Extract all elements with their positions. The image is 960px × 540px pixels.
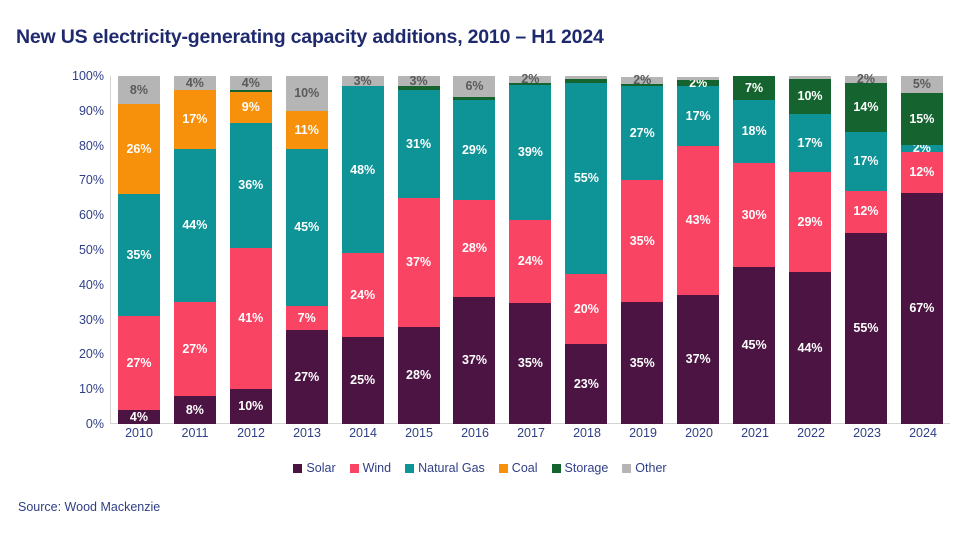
bar-segment-label: 7%	[298, 312, 316, 325]
bar-column[interactable]: 8%27%44%17%4%	[174, 76, 216, 424]
bar-segment-other[interactable]	[565, 76, 607, 79]
bar-column[interactable]: 10%41%36%9%4%	[230, 76, 272, 424]
bar-segment-label: 4%	[186, 77, 204, 90]
legend-swatch-icon	[552, 464, 561, 473]
bar-segment-label: 4%	[242, 77, 260, 90]
bar-segment-solar[interactable]: 37%	[677, 295, 719, 424]
bar-segment-solar[interactable]: 4%	[118, 410, 160, 424]
y-tick-label: 20%	[60, 347, 104, 361]
bar-segment-label: 3%	[354, 75, 372, 88]
bar-segment-storage[interactable]: 14%	[845, 83, 887, 132]
bar-column[interactable]: 37%28%29%6%	[453, 76, 495, 424]
bar-segment-label: 55%	[574, 172, 599, 185]
bar-segment-label: 10%	[798, 90, 823, 103]
legend-item-wind[interactable]: Wind	[350, 461, 391, 475]
bar-segment-label: 23%	[574, 378, 599, 391]
legend-swatch-icon	[405, 464, 414, 473]
bar-segment-label: 35%	[630, 235, 655, 248]
bar-segment-label: 7%	[745, 82, 763, 95]
x-tick-label: 2023	[846, 426, 888, 440]
bar-segment-label: 44%	[798, 342, 823, 355]
bar-segment-label: 39%	[518, 146, 543, 159]
bar-segment-label: 8%	[186, 404, 204, 417]
bar-segment-label: 41%	[238, 312, 263, 325]
bar-column[interactable]: 25%24%48%3%	[342, 76, 384, 424]
bar-segment-solar[interactable]: 8%	[174, 396, 216, 424]
legend-swatch-icon	[499, 464, 508, 473]
bar-segment-natural-gas[interactable]: 35%	[118, 194, 160, 316]
bar-segment-wind[interactable]: 28%	[453, 200, 495, 296]
bar-segment-storage[interactable]	[230, 90, 272, 92]
bar-segment-label: 30%	[742, 209, 767, 222]
bar-column[interactable]: 55%12%17%14%2%	[845, 76, 887, 424]
bar-segment-wind[interactable]: 27%	[118, 316, 160, 410]
bar-segment-solar[interactable]: 25%	[342, 337, 384, 424]
y-tick-label: 80%	[60, 139, 104, 153]
bar-column[interactable]: 23%20%55%	[565, 76, 607, 424]
bar-segment-label: 27%	[182, 343, 207, 356]
bar-segment-natural-gas[interactable]: 55%	[565, 83, 607, 274]
legend-label: Wind	[363, 461, 391, 475]
bar-segment-label: 12%	[909, 166, 934, 179]
bar-segment-label: 17%	[853, 155, 878, 168]
bar-segment-solar[interactable]: 44%	[789, 272, 831, 424]
x-tick-label: 2015	[398, 426, 440, 440]
bar-segment-solar[interactable]: 67%	[901, 193, 943, 424]
x-tick-label: 2019	[622, 426, 664, 440]
bar-segment-natural-gas[interactable]: 17%	[845, 132, 887, 191]
bar-segment-label: 4%	[130, 411, 148, 424]
y-tick-label: 100%	[60, 69, 104, 83]
bar-segment-label: 3%	[410, 75, 428, 88]
bar-segment-wind[interactable]: 24%	[509, 220, 551, 303]
bar-segment-other[interactable]: 2%	[509, 76, 551, 83]
legend-item-natural-gas[interactable]: Natural Gas	[405, 461, 485, 475]
bar-segment-natural-gas[interactable]: 45%	[286, 149, 328, 306]
bar-segment-label: 24%	[350, 289, 375, 302]
bar-segment-other[interactable]: 4%	[174, 76, 216, 90]
bar-segment-label: 45%	[742, 339, 767, 352]
bar-segment-label: 67%	[909, 302, 934, 315]
bar-segment-solar[interactable]: 28%	[398, 327, 440, 424]
bar-segment-other[interactable]: 5%	[901, 76, 943, 93]
legend-item-storage[interactable]: Storage	[552, 461, 609, 475]
legend-label: Coal	[512, 461, 538, 475]
x-tick-label: 2017	[510, 426, 552, 440]
bar-segment-label: 31%	[406, 138, 431, 151]
bar-segment-other[interactable]: 6%	[453, 76, 495, 97]
bar-segment-label: 37%	[462, 354, 487, 367]
bar-column[interactable]: 28%37%31%3%	[398, 76, 440, 424]
bar-segment-other[interactable]: 8%	[118, 76, 160, 104]
legend-swatch-icon	[622, 464, 631, 473]
bar-segment-natural-gas[interactable]: 17%	[677, 86, 719, 145]
legend-item-solar[interactable]: Solar	[293, 461, 335, 475]
bar-segment-wind[interactable]: 20%	[565, 274, 607, 344]
bar-segment-label: 17%	[686, 110, 711, 123]
bar-segment-label: 26%	[126, 143, 151, 156]
bar-segment-solar[interactable]: 45%	[733, 267, 775, 424]
bar-segment-storage[interactable]	[565, 79, 607, 83]
bar-segment-storage[interactable]	[621, 84, 663, 87]
y-tick-label: 10%	[60, 382, 104, 396]
y-tick-label: 40%	[60, 278, 104, 292]
bar-segment-solar[interactable]: 23%	[565, 344, 607, 424]
bar-segment-natural-gas[interactable]: 29%	[453, 100, 495, 200]
bar-segment-natural-gas[interactable]: 44%	[174, 149, 216, 302]
bar-segment-storage[interactable]	[398, 86, 440, 89]
bar-segment-label: 55%	[853, 322, 878, 335]
bar-segment-label: 28%	[462, 242, 487, 255]
bar-segment-wind[interactable]: 30%	[733, 163, 775, 267]
bar-segment-storage[interactable]: 7%	[733, 76, 775, 100]
bar-segment-label: 27%	[630, 127, 655, 140]
bar-segment-natural-gas[interactable]: 27%	[621, 86, 663, 180]
bar-segment-storage[interactable]	[509, 83, 551, 85]
bar-segment-label: 6%	[465, 80, 483, 93]
y-tick-label: 50%	[60, 243, 104, 257]
bar-column[interactable]: 44%29%17%10%	[789, 76, 831, 424]
bar-segment-wind[interactable]: 24%	[342, 253, 384, 337]
bar-segment-storage[interactable]: 10%	[789, 79, 831, 113]
bar-segment-wind[interactable]: 29%	[789, 172, 831, 272]
bar-column[interactable]: 4%27%35%26%8%	[118, 76, 160, 424]
bar-segment-solar[interactable]: 10%	[230, 389, 272, 424]
x-tick-label: 2013	[286, 426, 328, 440]
bar-segment-label: 36%	[238, 179, 263, 192]
bar-segment-solar[interactable]: 55%	[845, 233, 887, 424]
bar-column[interactable]: 37%43%17%2%	[677, 76, 719, 424]
bar-segment-label: 29%	[798, 216, 823, 229]
chart-legend: SolarWindNatural GasCoalStorageOther	[0, 461, 960, 475]
bar-segment-label: 27%	[126, 357, 151, 370]
x-tick-label: 2022	[790, 426, 832, 440]
bar-column[interactable]: 45%30%18%7%	[733, 76, 775, 424]
legend-swatch-icon	[350, 464, 359, 473]
bar-segment-storage[interactable]: 15%	[901, 93, 943, 145]
bar-segment-solar[interactable]: 27%	[286, 330, 328, 424]
bar-segment-label: 35%	[630, 357, 655, 370]
bar-segment-label: 35%	[126, 249, 151, 262]
bar-segment-other[interactable]	[789, 76, 831, 79]
bar-segment-coal[interactable]: 26%	[118, 104, 160, 194]
bar-segment-label: 48%	[350, 164, 375, 177]
bar-segment-label: 11%	[295, 124, 319, 137]
bar-segment-solar[interactable]: 37%	[453, 297, 495, 424]
bar-segment-label: 24%	[518, 255, 543, 268]
bar-segment-storage[interactable]: 2%	[677, 80, 719, 87]
bar-segment-other[interactable]: 2%	[621, 77, 663, 84]
bar-segment-label: 18%	[742, 125, 767, 138]
bar-segment-coal[interactable]: 11%	[286, 111, 328, 149]
bar-segment-wind[interactable]: 43%	[677, 146, 719, 296]
bar-segment-label: 5%	[913, 78, 931, 91]
y-tick-label: 0%	[60, 417, 104, 431]
bar-segment-wind[interactable]: 27%	[174, 302, 216, 396]
y-axis-tick-labels: 0%10%20%30%40%50%60%70%80%90%100%	[56, 76, 104, 424]
bar-segment-label: 17%	[182, 113, 207, 126]
bar-segment-wind[interactable]: 12%	[845, 191, 887, 233]
bar-segment-solar[interactable]: 35%	[621, 302, 663, 424]
page-title: New US electricity-generating capacity a…	[16, 26, 604, 49]
bar-segment-natural-gas[interactable]: 48%	[342, 86, 384, 253]
bar-segment-natural-gas[interactable]: 36%	[230, 123, 272, 248]
y-tick-label: 70%	[60, 173, 104, 187]
y-tick-label: 90%	[60, 104, 104, 118]
bar-segment-other[interactable]: 4%	[230, 76, 272, 90]
bar-segment-natural-gas[interactable]: 17%	[789, 114, 831, 173]
bar-segment-wind[interactable]: 35%	[621, 180, 663, 302]
bar-segment-wind[interactable]: 37%	[398, 198, 440, 327]
bar-column[interactable]: 67%12%2%15%5%	[901, 76, 943, 424]
plot-area: 4%27%35%26%8%8%27%44%17%4%10%41%36%9%4%2…	[110, 76, 950, 424]
bar-segment-natural-gas[interactable]: 18%	[733, 100, 775, 163]
bar-segment-label: 12%	[853, 205, 878, 218]
bar-column[interactable]: 27%7%45%11%10%	[286, 76, 328, 424]
bar-segment-label: 14%	[853, 101, 878, 114]
x-tick-label: 2010	[118, 426, 160, 440]
x-tick-label: 2024	[902, 426, 944, 440]
legend-label: Natural Gas	[418, 461, 485, 475]
y-tick-label: 30%	[60, 313, 104, 327]
x-tick-label: 2020	[678, 426, 720, 440]
x-axis-tick-labels: 2010201120122013201420152016201720182019…	[111, 426, 951, 446]
bar-segment-label: 45%	[294, 221, 319, 234]
bar-segment-coal[interactable]: 9%	[230, 92, 272, 123]
legend-swatch-icon	[293, 464, 302, 473]
bar-segment-wind[interactable]: 41%	[230, 248, 272, 390]
legend-item-other[interactable]: Other	[622, 461, 666, 475]
bar-segment-label: 9%	[242, 101, 260, 114]
x-tick-label: 2018	[566, 426, 608, 440]
x-tick-label: 2021	[734, 426, 776, 440]
x-tick-label: 2014	[342, 426, 384, 440]
bar-segment-solar[interactable]: 35%	[509, 303, 551, 424]
bar-segment-label: 17%	[798, 137, 823, 150]
bar-segment-label: 43%	[686, 214, 711, 227]
bar-segment-other[interactable]: 3%	[342, 76, 384, 86]
bar-segment-coal[interactable]: 17%	[174, 90, 216, 149]
bar-column[interactable]: 35%35%27%2%	[621, 76, 663, 424]
x-tick-label: 2016	[454, 426, 496, 440]
bar-segment-label: 20%	[574, 303, 599, 316]
x-tick-label: 2011	[174, 426, 216, 440]
bar-segment-other[interactable]: 3%	[398, 76, 440, 86]
bar-segment-label: 28%	[406, 369, 431, 382]
bar-segment-label: 37%	[406, 256, 431, 269]
bar-segment-label: 10%	[294, 87, 319, 100]
bar-segment-natural-gas[interactable]: 39%	[509, 85, 551, 220]
bar-segment-label: 10%	[238, 400, 263, 413]
bar-segment-label: 15%	[909, 113, 934, 126]
bar-column[interactable]: 35%24%39%2%	[509, 76, 551, 424]
bar-segment-label: 27%	[294, 371, 319, 384]
legend-item-coal[interactable]: Coal	[499, 461, 538, 475]
bar-segment-other[interactable]: 10%	[286, 76, 328, 111]
bar-segment-label: 37%	[686, 353, 711, 366]
bar-segment-natural-gas[interactable]: 31%	[398, 90, 440, 198]
legend-label: Other	[635, 461, 666, 475]
source-note: Source: Wood Mackenzie	[18, 500, 160, 514]
bar-segment-natural-gas[interactable]: 2%	[901, 145, 943, 152]
bar-segment-label: 25%	[350, 374, 375, 387]
bar-segment-other[interactable]: 2%	[845, 76, 887, 83]
bar-segment-label: 35%	[518, 357, 543, 370]
legend-label: Solar	[306, 461, 335, 475]
x-tick-label: 2012	[230, 426, 272, 440]
bar-segment-other[interactable]	[677, 77, 719, 80]
bar-segment-wind[interactable]: 12%	[901, 152, 943, 193]
legend-label: Storage	[565, 461, 609, 475]
bar-segment-label: 8%	[130, 84, 148, 97]
bar-segment-storage[interactable]	[453, 97, 495, 100]
bar-series-group: 4%27%35%26%8%8%27%44%17%4%10%41%36%9%4%2…	[111, 76, 950, 424]
y-tick-label: 60%	[60, 208, 104, 222]
bar-segment-label: 44%	[182, 219, 207, 232]
bar-segment-wind[interactable]: 7%	[286, 306, 328, 330]
bar-segment-label: 29%	[462, 144, 487, 157]
